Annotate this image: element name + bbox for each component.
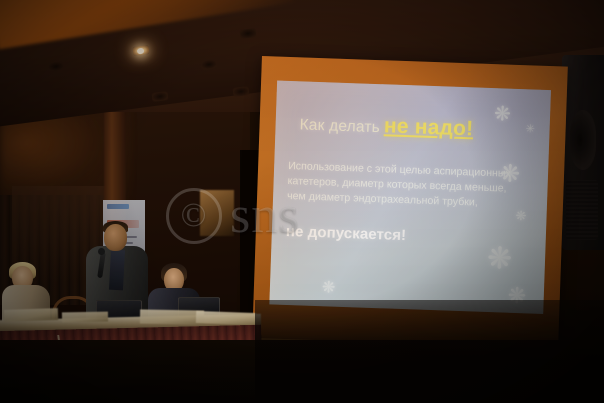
snowflake-top-right-small: ✳ [525,124,535,135]
snowflake-bottom-right-large: ❋ [487,244,513,275]
paper-stack-4 [196,311,256,325]
conference-photo-scene: ❋✳❋❋❋❋❋ Как делатьне надо! Использование… [0,0,604,403]
paper-stack-1 [4,308,58,322]
slide-body-text: Использование с этой целью аспирационных… [287,159,516,213]
ceiling-spot-5 [152,91,169,102]
snowflake-bottom-left: ❋ [322,280,336,296]
foreground-shadow [255,300,604,403]
ceiling-spot-2 [133,45,150,56]
ceiling-spot-1 [48,61,65,72]
speaker-grill [566,180,598,240]
slide-title-emphasis: не надо! [384,114,474,140]
slide-title: Как делатьне надо! [299,111,473,141]
ceiling-spot-4 [240,28,257,39]
slide-title-prefix: Как делать [299,116,380,136]
wall-picture-frame [200,190,234,236]
presentation-slide: ❋✳❋❋❋❋❋ Как делатьне надо! Использование… [269,81,551,314]
presenter-head [104,224,127,251]
snowflake-top-right-large: ❋ [494,104,511,125]
paper-stack-2 [62,312,108,323]
snowflake-lower-right-small: ❋ [515,209,526,222]
ceiling-spot-3 [201,59,218,70]
paper-stack-3 [140,309,204,324]
snowflake-decoration-group: ❋✳❋❋❋❋❋ [277,81,551,91]
presenter-shirt [109,250,125,291]
speaker-horn [570,110,596,170]
microphone-head [98,248,105,255]
banner-logo [107,204,129,209]
ceiling-spot-6 [233,86,250,97]
slide-kicker-text: не допускается! [286,223,407,244]
